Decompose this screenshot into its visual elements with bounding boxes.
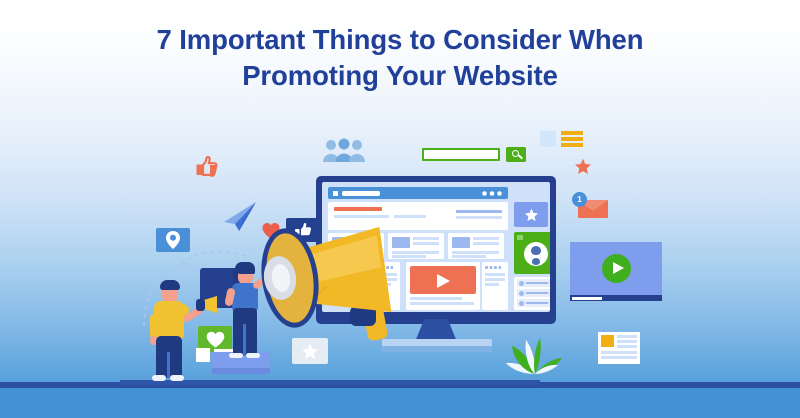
website-card bbox=[448, 233, 504, 259]
person-leg-split bbox=[167, 352, 170, 378]
card-line-3 bbox=[392, 251, 439, 254]
side-dots bbox=[485, 266, 501, 269]
menu-list-icon bbox=[540, 130, 584, 148]
envelope-icon: 1 bbox=[572, 192, 608, 218]
hero-line-2 bbox=[394, 215, 426, 218]
magnifier-handle bbox=[518, 155, 523, 160]
menu-thumb bbox=[540, 131, 556, 147]
hero-accent-line bbox=[334, 207, 382, 211]
small-megaphone-icon bbox=[196, 296, 218, 314]
users-group-icon bbox=[322, 138, 366, 164]
location-pin-icon bbox=[156, 228, 190, 252]
search-bar-icon bbox=[422, 146, 526, 164]
person-with-megaphone-standing bbox=[148, 278, 200, 382]
article-line-3 bbox=[617, 345, 637, 348]
card-line-1 bbox=[473, 237, 499, 240]
website-profile-card bbox=[514, 232, 550, 274]
browser-dots-icon bbox=[482, 191, 502, 196]
video-player-icon bbox=[570, 242, 662, 304]
avatar bbox=[524, 242, 548, 266]
title-line-1: 7 Important Things to Consider When bbox=[0, 22, 800, 58]
article-thumb bbox=[601, 335, 614, 347]
title-line-2: Promoting Your Website bbox=[0, 58, 800, 94]
ground-band bbox=[0, 386, 800, 418]
website-list-block bbox=[514, 277, 550, 310]
large-megaphone bbox=[254, 228, 394, 353]
hero-line-1 bbox=[334, 215, 389, 218]
video-progress-fill bbox=[572, 297, 602, 300]
side-line-1 bbox=[485, 273, 505, 276]
search-input-box bbox=[422, 148, 500, 161]
monitor-base-shadow bbox=[382, 346, 492, 352]
paper-plane-icon bbox=[222, 200, 258, 232]
browser-url-pill bbox=[342, 191, 380, 196]
play-triangle bbox=[437, 274, 450, 288]
card-thumb bbox=[452, 237, 470, 248]
article-line-2 bbox=[617, 340, 637, 343]
website-side-block bbox=[482, 262, 508, 310]
hero-line-4 bbox=[456, 216, 502, 219]
card-line-2 bbox=[473, 242, 499, 245]
card-thumb bbox=[392, 237, 410, 248]
notification-badge: 1 bbox=[572, 192, 587, 207]
thumbs-up-orange-icon bbox=[192, 152, 222, 182]
decorative-plant bbox=[502, 336, 568, 374]
person-hair bbox=[235, 262, 255, 274]
video-thumbnail bbox=[410, 266, 476, 294]
website-card bbox=[388, 233, 444, 259]
play-button bbox=[602, 254, 631, 283]
page-title: 7 Important Things to Consider When Prom… bbox=[0, 22, 800, 94]
person-shoe-right bbox=[170, 375, 184, 381]
star-orange-icon bbox=[574, 158, 592, 176]
megaphone-body bbox=[196, 299, 205, 311]
article-line-5 bbox=[601, 356, 637, 359]
card-line-1 bbox=[413, 237, 439, 240]
person-leg-split bbox=[243, 324, 246, 356]
promotional-banner: 7 Important Things to Consider When Prom… bbox=[0, 0, 800, 418]
menu-line-1 bbox=[561, 131, 583, 135]
list-item bbox=[517, 299, 550, 307]
side-line-2 bbox=[485, 278, 505, 281]
website-hero-block bbox=[328, 202, 508, 230]
card-line-4 bbox=[392, 255, 426, 258]
menu-line-2 bbox=[561, 137, 583, 141]
side-line-3 bbox=[485, 283, 499, 286]
article-line-4 bbox=[601, 351, 637, 354]
profile-tag bbox=[517, 235, 523, 240]
person-shoe-right bbox=[246, 353, 260, 358]
person-hair bbox=[160, 280, 180, 290]
play-triangle bbox=[613, 262, 624, 274]
menu-line-3 bbox=[561, 143, 583, 147]
article-card-icon bbox=[598, 332, 640, 364]
card-line-4 bbox=[452, 255, 486, 258]
card-line-2 bbox=[413, 242, 439, 245]
card-line-3 bbox=[452, 251, 499, 254]
hero-line-3 bbox=[456, 210, 502, 213]
browser-bar bbox=[328, 187, 508, 199]
list-item bbox=[517, 289, 550, 297]
website-star-card bbox=[514, 202, 548, 227]
search-button bbox=[506, 147, 526, 162]
article-line-1 bbox=[617, 335, 637, 338]
video-caption-line-1 bbox=[410, 297, 462, 300]
person-shoe-left bbox=[152, 375, 166, 381]
list-item bbox=[517, 279, 550, 287]
browser-square-icon bbox=[333, 191, 338, 196]
person-shoe-left bbox=[229, 353, 243, 358]
website-video-card bbox=[406, 262, 480, 310]
video-caption-line-2 bbox=[410, 302, 474, 305]
